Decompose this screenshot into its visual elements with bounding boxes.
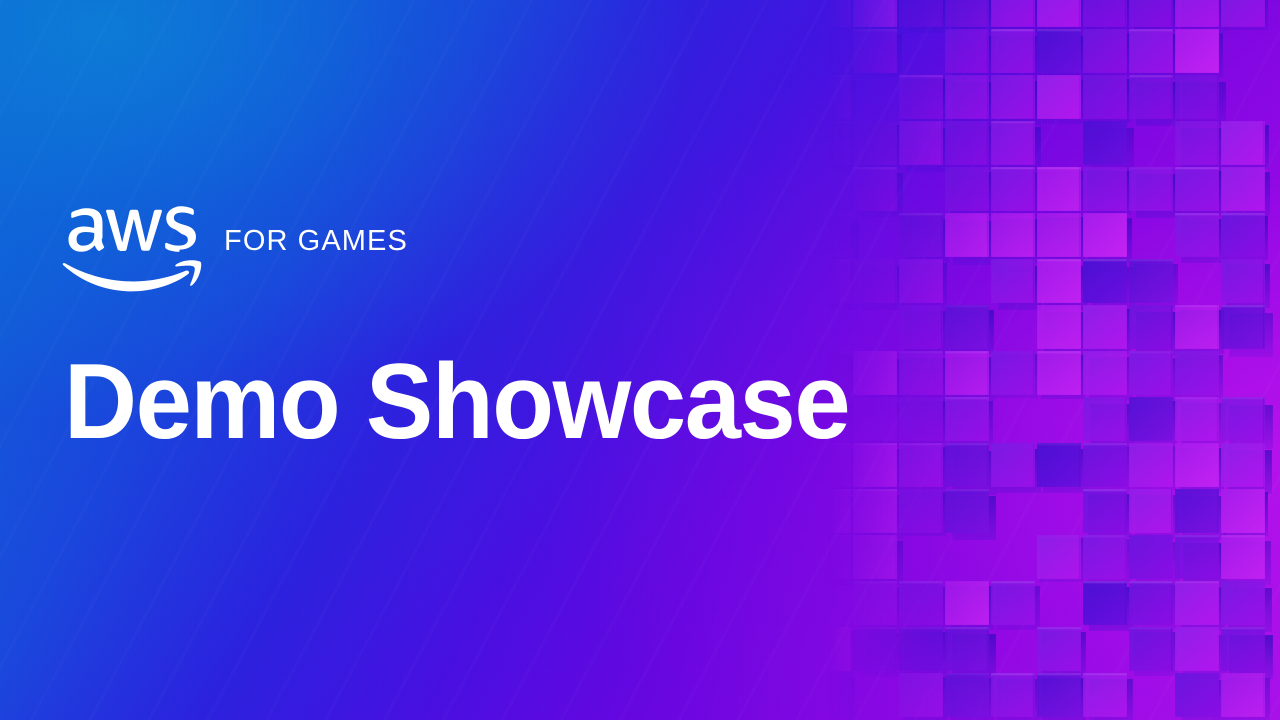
program-label: FOR GAMES xyxy=(224,227,408,256)
brand-lockup: FOR GAMES xyxy=(62,206,408,294)
page-title: Demo Showcase xyxy=(64,345,849,457)
title-card: FOR GAMES Demo Showcase xyxy=(0,0,1280,720)
aws-logo xyxy=(62,206,202,294)
content-block: FOR GAMES Demo Showcase xyxy=(62,0,982,720)
